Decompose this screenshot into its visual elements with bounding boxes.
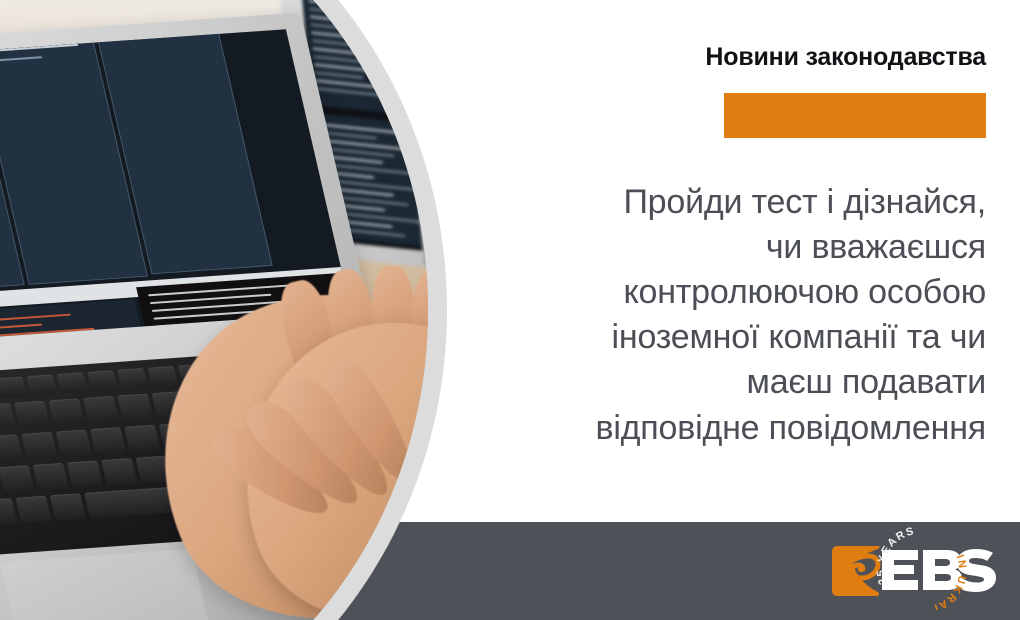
headline: Пройди тест і дізнайся, чи вважаєшся кон… (526, 180, 986, 451)
ebs-wordmark (882, 549, 996, 592)
headline-line-5: маєш подавати (526, 360, 986, 405)
headline-line-6: відповідне повідомлення (526, 406, 986, 451)
laptop-trackpad (0, 549, 216, 620)
banner-canvas: Новини законодавства Пройди тест і дізна… (0, 0, 1020, 620)
content-column: Новини законодавства Пройди тест і дізна… (526, 0, 986, 520)
headline-line-3: контролюючою особою (526, 270, 986, 315)
headline-line-4: іноземної компанії та чи (526, 315, 986, 360)
headline-line-1: Пройди тест і дізнайся, (526, 180, 986, 225)
ebs-logo[interactable]: 25 YEARS IN UKRAINE (826, 524, 998, 610)
ebs-leaf-eye-mark (832, 546, 880, 596)
accent-bar (724, 93, 986, 138)
headline-line-2: чи вважаєшся (526, 225, 986, 270)
kicker-title: Новини законодавства (526, 44, 986, 72)
